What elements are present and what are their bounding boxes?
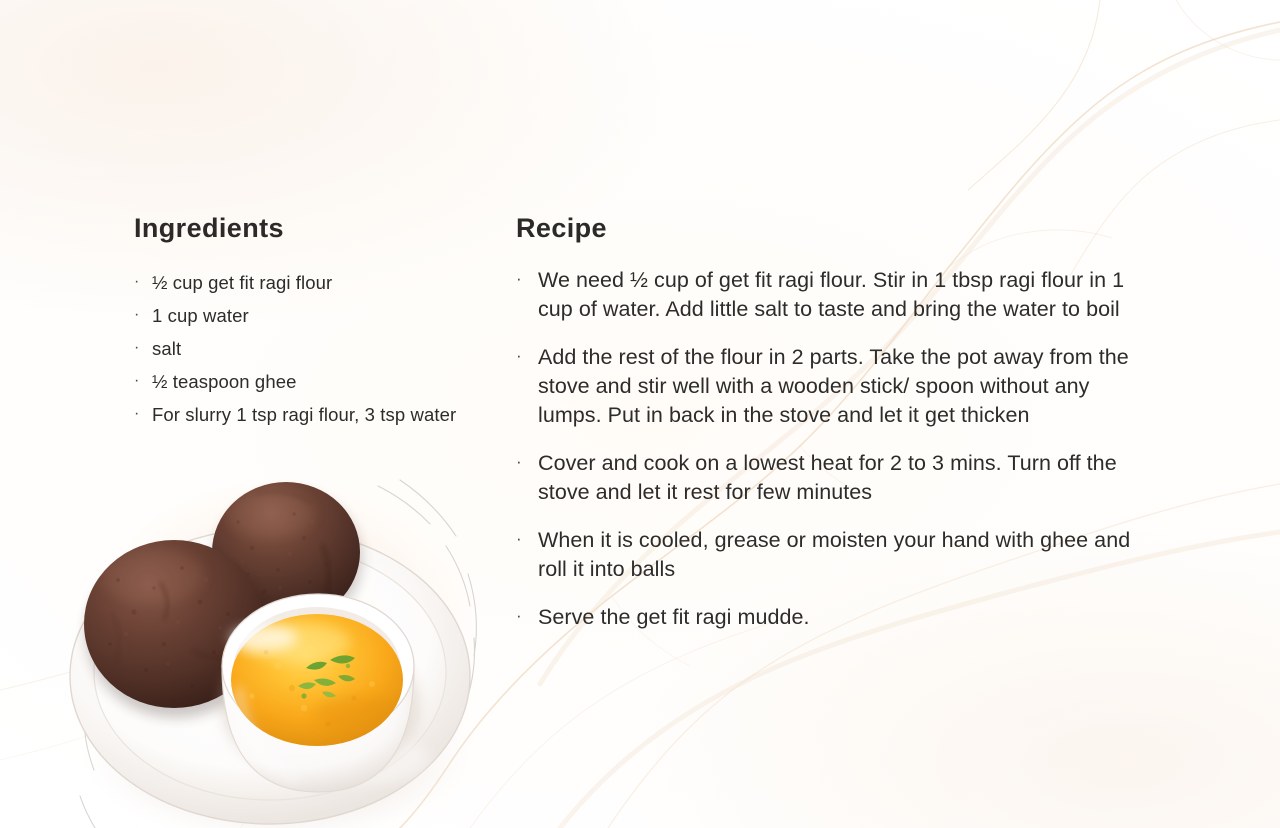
ingredient-text: ½ teaspoon ghee (152, 371, 297, 392)
recipe-steps-list: · We need ½ cup of get fit ragi flour. S… (516, 266, 1156, 632)
recipe-card: Ingredients · ½ cup get fit ragi flour ·… (0, 0, 1280, 828)
list-item: · Add the rest of the flour in 2 parts. … (516, 343, 1156, 430)
recipe-section: Recipe · We need ½ cup of get fit ragi f… (516, 214, 1156, 632)
bullet-dot: · (516, 264, 522, 293)
bullet-dot: · (134, 265, 139, 298)
bullet-dot: · (516, 341, 522, 370)
bullet-dot: · (134, 364, 139, 397)
list-item: · Serve the get fit ragi mudde. (516, 603, 1156, 632)
recipe-step-text: When it is cooled, grease or moisten you… (538, 528, 1130, 581)
recipe-title: Recipe (516, 214, 1156, 244)
recipe-step-text: Add the rest of the flour in 2 parts. Ta… (538, 345, 1129, 427)
list-item: · Cover and cook on a lowest heat for 2 … (516, 449, 1156, 507)
recipe-step-text: We need ½ cup of get fit ragi flour. Sti… (538, 268, 1124, 321)
recipe-step-text: Serve the get fit ragi mudde. (538, 605, 810, 629)
list-item: · salt (134, 332, 474, 365)
ingredient-text: ½ cup get fit ragi flour (152, 272, 332, 293)
bullet-dot: · (516, 601, 522, 630)
recipe-step-text: Cover and cook on a lowest heat for 2 to… (538, 451, 1117, 504)
ragi-mudde-photo (42, 452, 502, 828)
list-item: · When it is cooled, grease or moisten y… (516, 526, 1156, 584)
bullet-dot: · (516, 524, 522, 553)
list-item: · For slurry 1 tsp ragi flour, 3 tsp wat… (134, 398, 474, 431)
bullet-dot: · (134, 397, 139, 430)
bullet-dot: · (516, 447, 522, 476)
bullet-dot: · (134, 298, 139, 331)
list-item: · ½ teaspoon ghee (134, 365, 474, 398)
ingredients-list: · ½ cup get fit ragi flour · 1 cup water… (134, 266, 474, 431)
list-item: · We need ½ cup of get fit ragi flour. S… (516, 266, 1156, 324)
bullet-dot: · (134, 331, 139, 364)
list-item: · ½ cup get fit ragi flour (134, 266, 474, 299)
ingredients-section: Ingredients · ½ cup get fit ragi flour ·… (134, 214, 474, 431)
ingredient-text: For slurry 1 tsp ragi flour, 3 tsp water (152, 404, 456, 425)
list-item: · 1 cup water (134, 299, 474, 332)
ingredients-title: Ingredients (134, 214, 474, 244)
ingredient-text: salt (152, 338, 181, 359)
ingredient-text: 1 cup water (152, 305, 249, 326)
